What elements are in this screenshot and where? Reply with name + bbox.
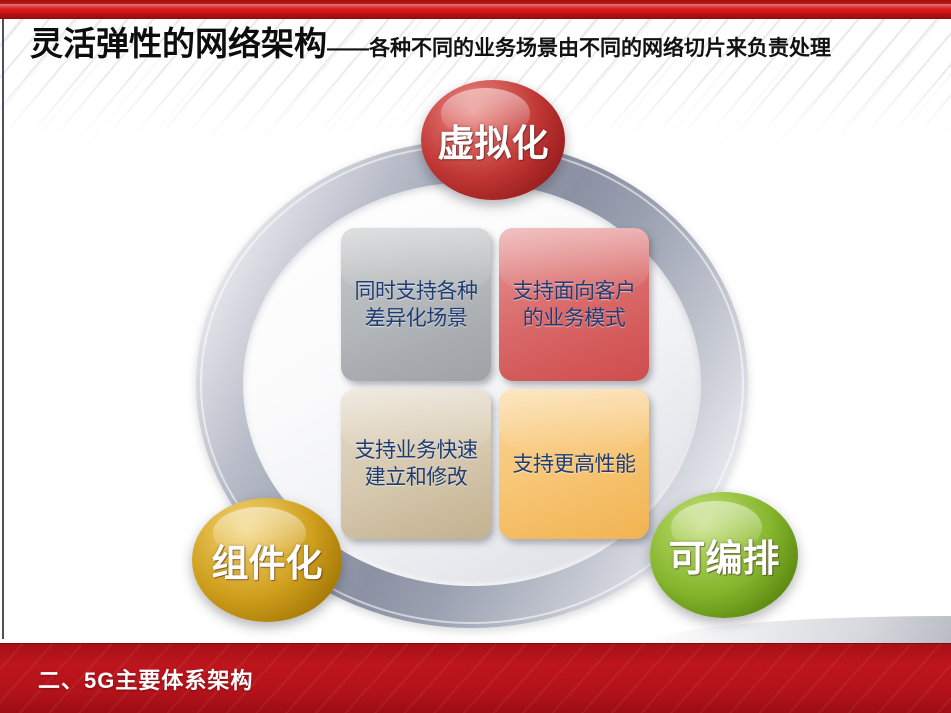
section-footer-label: 二、5G主要体系架构 xyxy=(38,663,253,695)
feature-box-text: 同时支持各种 差异化场景 xyxy=(353,278,480,332)
feature-box-line2: 建立和修改 xyxy=(365,466,468,489)
feature-box-text: 支持面向客户 的业务模式 xyxy=(511,278,638,332)
feature-box-text: 支持业务快速 建立和修改 xyxy=(353,437,480,491)
slide-canvas: 灵活弹性的网络架构 ——各种不同的业务场景由不同的网络切片来负责处理 同时支持各… xyxy=(0,0,951,713)
sphere-label: 可编排 xyxy=(669,528,780,582)
architecture-diagram: 同时支持各种 差异化场景 支持面向客户 的业务模式 支持业务快速 建立和修改 支… xyxy=(0,0,951,713)
feature-box-customer-facing-model[interactable]: 支持面向客户 的业务模式 xyxy=(499,228,649,381)
feature-box-text: 支持更高性能 xyxy=(511,451,638,478)
feature-box-line2: 的业务模式 xyxy=(523,307,626,330)
feature-box-grid: 同时支持各种 差异化场景 支持面向客户 的业务模式 支持业务快速 建立和修改 支… xyxy=(341,228,649,539)
feature-box-line1: 支持面向客户 xyxy=(513,280,636,303)
sphere-orchestratable[interactable]: 可编排 xyxy=(650,492,798,618)
sphere-label: 虚拟化 xyxy=(438,113,549,167)
feature-box-diverse-scenarios[interactable]: 同时支持各种 差异化场景 xyxy=(341,228,491,381)
section-footer-bar: 二、5G主要体系架构 xyxy=(0,643,951,713)
feature-box-higher-performance[interactable]: 支持更高性能 xyxy=(499,389,649,539)
sphere-virtualization[interactable]: 虚拟化 xyxy=(421,80,565,200)
feature-box-line1: 同时支持各种 xyxy=(355,280,478,303)
feature-box-line1: 支持更高性能 xyxy=(513,453,636,476)
feature-box-line2: 差异化场景 xyxy=(365,307,468,330)
feature-box-line1: 支持业务快速 xyxy=(355,439,478,462)
sphere-label: 组件化 xyxy=(212,533,323,587)
feature-box-rapid-service-setup[interactable]: 支持业务快速 建立和修改 xyxy=(341,389,491,539)
sphere-componentization[interactable]: 组件化 xyxy=(192,498,342,622)
